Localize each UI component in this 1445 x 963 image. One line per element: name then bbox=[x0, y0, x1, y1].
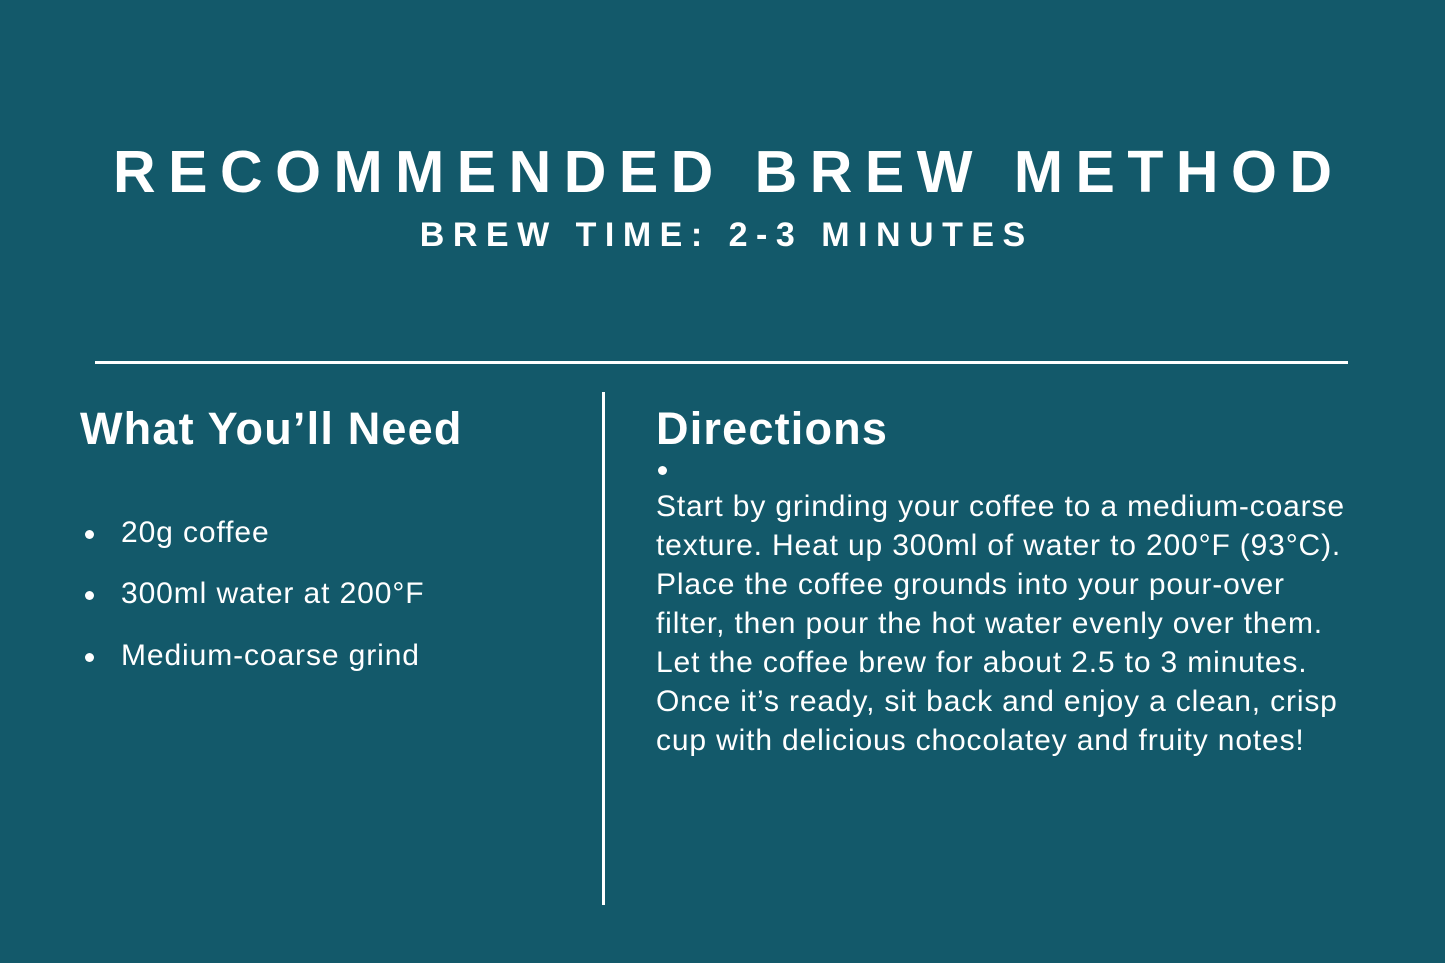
page-title: RECOMMENDED BREW METHOD bbox=[0, 0, 1445, 202]
directions-section: Directions Start by grinding your coffee… bbox=[656, 404, 1356, 760]
list-item-label: 300ml water at 200°F bbox=[121, 577, 424, 610]
what-you-need-heading: What You’ll Need bbox=[80, 404, 580, 454]
directions-heading: Directions bbox=[656, 404, 1356, 454]
what-you-need-section: What You’ll Need 20g coffee 300ml water … bbox=[80, 404, 580, 638]
list-item-label: 20g coffee bbox=[121, 516, 270, 549]
horizontal-divider bbox=[95, 361, 1348, 364]
card-header: RECOMMENDED BREW METHOD BREW TIME: 2-3 M… bbox=[0, 0, 1445, 254]
brew-method-card: RECOMMENDED BREW METHOD BREW TIME: 2-3 M… bbox=[0, 0, 1445, 963]
bullet-icon bbox=[85, 530, 94, 539]
list-item: 20g coffee bbox=[80, 516, 580, 550]
ingredients-list: 20g coffee 300ml water at 200°F Medium-c… bbox=[80, 516, 580, 673]
vertical-divider bbox=[602, 392, 605, 905]
brew-time-subtitle: BREW TIME: 2-3 MINUTES bbox=[0, 202, 1445, 254]
list-item-label: Medium-coarse grind bbox=[121, 639, 420, 672]
bullet-icon bbox=[85, 591, 94, 600]
bullet-icon bbox=[85, 653, 94, 662]
list-item: Medium-coarse grind bbox=[80, 639, 580, 673]
directions-body-text: Start by grinding your coffee to a mediu… bbox=[656, 454, 1352, 760]
list-item: 300ml water at 200°F bbox=[80, 577, 580, 611]
